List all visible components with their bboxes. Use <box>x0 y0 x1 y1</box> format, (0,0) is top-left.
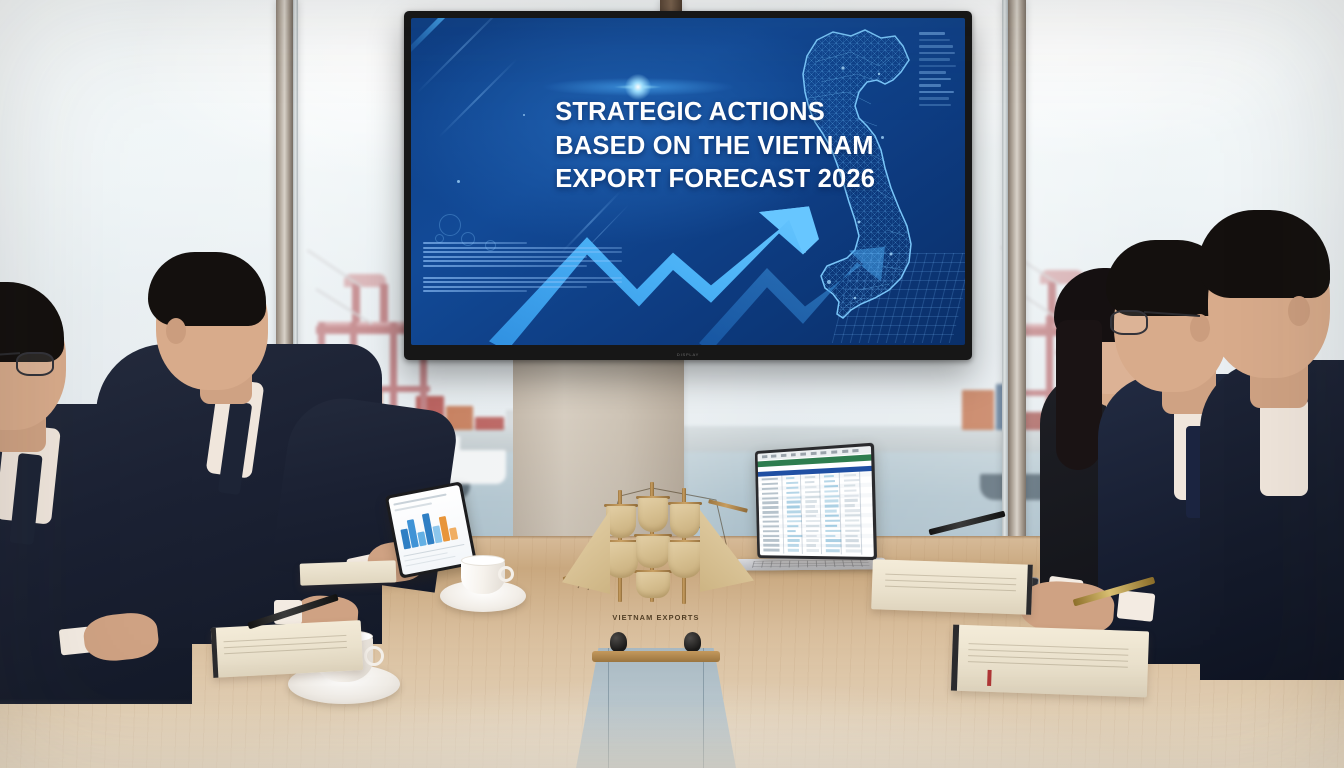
spreadsheet-cell <box>825 525 838 527</box>
perspective-grid <box>832 253 965 343</box>
spreadsheet-cell <box>806 525 820 527</box>
notebook-bookmark <box>987 670 992 686</box>
body-line <box>423 265 587 267</box>
data-readout-line <box>919 65 956 68</box>
toolbar-icon <box>821 451 827 454</box>
spreadsheet-cell <box>826 549 840 552</box>
notebook-left <box>211 620 363 678</box>
spreadsheet-cell <box>787 525 799 527</box>
spreadsheet-cell <box>805 481 815 484</box>
toolbar-icon <box>791 453 797 456</box>
spreadsheet-cell <box>805 505 815 508</box>
toolbar-icon <box>800 453 806 456</box>
mug-handle <box>498 566 514 582</box>
participant-right-foreground <box>1216 210 1344 670</box>
spreadsheet-cell <box>805 510 818 513</box>
spreadsheet-cell <box>824 475 834 478</box>
spreadsheet-cell <box>825 530 841 532</box>
body-line <box>423 251 622 253</box>
sail-fore-upper <box>606 506 636 538</box>
spreadsheet-cell <box>787 544 799 546</box>
ear <box>1190 314 1210 342</box>
spreadsheet-cell <box>804 476 814 479</box>
spreadsheet-cell <box>845 545 860 548</box>
wall-display[interactable]: STRATEGIC ACTIONS BASED ON THE VIETNAM E… <box>404 11 972 360</box>
toolbar-icon <box>831 450 837 453</box>
data-readout-line <box>919 45 953 48</box>
spreadsheet-cell <box>844 499 858 502</box>
spreadsheet-cell <box>762 525 779 527</box>
spreadsheet-cell <box>806 539 819 541</box>
spreadsheet-cell <box>844 484 855 487</box>
spreadsheet-cell <box>845 534 857 536</box>
stand-knob-right <box>684 632 701 652</box>
spreadsheet-cell <box>824 495 839 498</box>
spreadsheet-cell <box>845 529 859 531</box>
toolbar-icon <box>842 450 848 453</box>
spreadsheet-cell <box>845 524 861 527</box>
spreadsheet-cell <box>806 549 819 551</box>
slide-title-line-1: STRATEGIC ACTIONS <box>555 96 951 129</box>
spreadsheet-cell <box>824 480 835 483</box>
notepad-left-back <box>300 560 397 585</box>
spreadsheet-cell <box>762 530 779 532</box>
spreadsheet-cell <box>845 514 861 517</box>
spreadsheet-cell <box>786 506 799 509</box>
spreadsheet-cell <box>763 535 780 537</box>
notebook-spine <box>951 625 959 691</box>
spreadsheet-cell <box>786 486 798 489</box>
mug-handle <box>364 646 384 666</box>
toolbar-icon <box>853 449 859 452</box>
spreadsheet-cell <box>825 535 835 537</box>
spreadsheet-cell <box>824 490 838 493</box>
boardroom-scene: STRATEGIC ACTIONS BASED ON THE VIETNAM E… <box>0 0 1344 768</box>
hair <box>1198 210 1330 298</box>
shirt-cuff <box>1117 590 1156 622</box>
data-readout-line <box>919 91 954 94</box>
body-line <box>423 242 527 244</box>
display-brand-mark: DISPLAY <box>677 352 699 357</box>
spreadsheet-cell <box>762 520 779 522</box>
spreadsheet-cell <box>787 520 802 522</box>
spreadsheet-cell <box>824 505 838 508</box>
data-readout-line <box>919 84 941 87</box>
ship-stand <box>592 651 720 662</box>
body-line <box>423 256 587 258</box>
spreadsheet-cell <box>787 510 801 513</box>
data-readout-line <box>919 78 951 81</box>
notebook-right-back <box>871 559 1033 615</box>
spreadsheet-cell <box>786 501 800 504</box>
spreadsheet-cell <box>806 535 817 537</box>
sail-mizzen-lower <box>668 542 702 578</box>
spreadsheet-cell <box>787 535 802 537</box>
body-line <box>423 290 527 292</box>
spreadsheet-cell <box>786 496 801 499</box>
spreadsheet-cell <box>805 500 817 503</box>
body-line <box>423 247 622 249</box>
spreadsheet-cell <box>844 504 854 507</box>
data-readout-line <box>919 52 955 55</box>
spreadsheet-cell <box>786 477 795 480</box>
spreadsheet-cell <box>762 516 779 519</box>
hair <box>0 282 64 362</box>
spreadsheet-cell <box>763 539 780 541</box>
toolbar-icon <box>781 454 786 457</box>
spreadsheet-cell <box>846 550 862 553</box>
spreadsheet-cell <box>786 491 799 494</box>
spreadsheet-cell <box>762 501 779 504</box>
spreadsheet-cell <box>825 544 841 546</box>
laptop-screen[interactable] <box>758 446 874 557</box>
sail-mizzen-upper <box>670 504 700 538</box>
spreadsheet-cell <box>825 515 839 518</box>
spreadsheet-cell <box>825 510 837 513</box>
spreadsheet-cell <box>806 520 821 523</box>
participant-left-1 <box>0 276 244 696</box>
ship-hull-name: VIETNAM EXPORTS <box>572 613 740 622</box>
spreadsheet-cell <box>805 486 817 489</box>
stand-knob-left <box>610 632 627 652</box>
spreadsheet-cell <box>845 509 861 512</box>
notebook-lines <box>224 635 348 659</box>
mug-rim <box>461 555 505 566</box>
spreadsheet-cell <box>845 540 859 542</box>
data-readout-line <box>919 58 950 61</box>
body-line <box>423 286 587 288</box>
spreadsheet-cell <box>805 515 815 517</box>
data-readout-line <box>919 71 946 74</box>
coffee-cup-back <box>440 558 526 612</box>
spreadsheet-cell <box>824 500 838 503</box>
ear <box>1288 296 1310 326</box>
notebook-right-front <box>951 625 1149 698</box>
spreadsheet-cell <box>762 506 779 509</box>
body-line <box>423 277 622 279</box>
spreadsheet-cell <box>806 530 819 532</box>
spreadsheet-cell <box>825 520 841 523</box>
spreadsheet-cell <box>787 515 802 518</box>
spreadsheet-cell <box>825 539 841 541</box>
spreadsheet-cell <box>806 544 816 546</box>
ship-model: VIETNAM EXPORTS <box>548 448 764 680</box>
dress-shirt <box>1260 396 1308 496</box>
eyeglass-lens <box>16 352 54 376</box>
toolbar-icon <box>771 455 776 458</box>
body-line <box>423 281 622 283</box>
spreadsheet-cell <box>844 494 858 497</box>
hair-long <box>1056 320 1102 470</box>
ship-hull: VIETNAM EXPORTS <box>572 594 740 636</box>
slide-title-line-3: EXPORT FORECAST 2026 <box>555 163 951 196</box>
data-readout-line <box>919 39 950 42</box>
notebook-lines <box>885 574 1017 597</box>
presentation-slide[interactable]: STRATEGIC ACTIONS BASED ON THE VIETNAM E… <box>411 18 965 345</box>
sail-main-upper <box>638 498 668 532</box>
body-line <box>423 260 622 262</box>
spreadsheet-cell <box>805 495 820 498</box>
spreadsheet-cell <box>787 539 799 541</box>
spreadsheet-cell <box>762 511 779 514</box>
sail-main-mid <box>636 536 670 568</box>
slide-body-text <box>423 242 622 295</box>
container-box <box>475 417 504 430</box>
toolbar-icon <box>811 452 817 455</box>
eyeglass-lens <box>1110 310 1148 335</box>
chart-bar <box>449 527 458 541</box>
laptop-device[interactable] <box>755 443 877 561</box>
notebook-lines <box>967 644 1128 674</box>
spreadsheet-cell <box>844 489 856 492</box>
spreadsheet-cell <box>845 519 860 522</box>
spreadsheet-cell <box>787 549 799 551</box>
slide-title: STRATEGIC ACTIONS BASED ON THE VIETNAM E… <box>491 96 951 195</box>
spreadsheet-cell <box>787 530 796 532</box>
spreadsheet-cell <box>763 549 780 551</box>
spreadsheet-cell <box>763 544 780 546</box>
slide-title-line-2: BASED ON THE VIETNAM <box>555 130 951 163</box>
data-readout-line <box>919 32 945 35</box>
laptop-keyboard[interactable] <box>752 560 869 568</box>
